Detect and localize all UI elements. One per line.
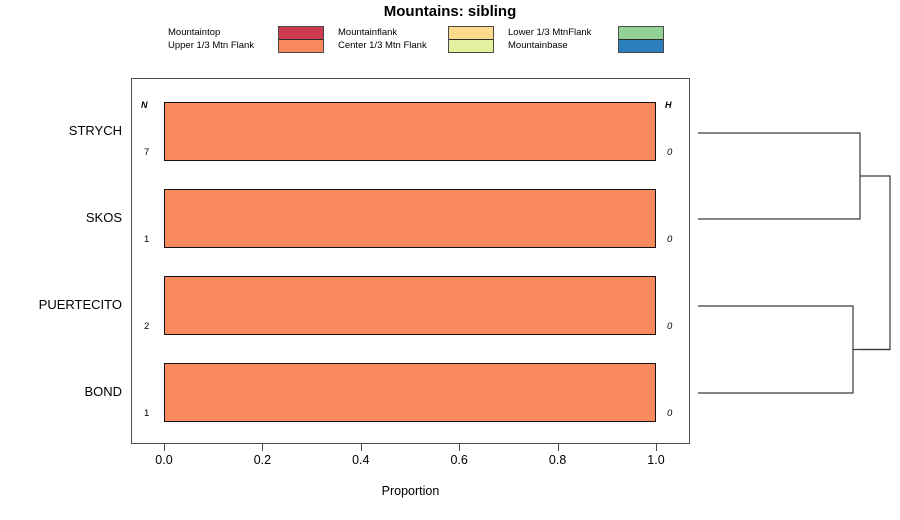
x-tick-0 (164, 444, 165, 451)
legend-labels-1: Mountaintop Upper 1/3 Mtn Flank (168, 26, 278, 52)
legend-label-center-third-mtn-flank: Center 1/3 Mtn Flank (338, 39, 448, 52)
x-tick-label-5: 1.0 (626, 453, 686, 467)
x-tick-5 (656, 444, 657, 451)
x-tick-1 (262, 444, 263, 451)
x-tick-4 (558, 444, 559, 451)
dendrogram-branches (698, 133, 890, 393)
row-h-value-strych: 0 (667, 147, 672, 158)
page-title: Mountains: sibling (0, 3, 900, 20)
x-axis-title: Proportion (131, 484, 690, 498)
legend-swatches-1 (278, 26, 324, 53)
legend-label-upper-third-mtn-flank: Upper 1/3 Mtn Flank (168, 39, 278, 52)
x-tick-label-3: 0.6 (429, 453, 489, 467)
legend: Mountaintop Upper 1/3 Mtn Flank Mountain… (168, 26, 688, 54)
legend-swatch-lower-third-mtn-flank (619, 27, 663, 40)
legend-swatches-3 (618, 26, 664, 53)
x-tick-label-4: 0.8 (528, 453, 588, 467)
x-tick-3 (459, 444, 460, 451)
row-n-value-bond: 1 (144, 408, 149, 419)
legend-labels-3: Lower 1/3 MtnFlank Mountainbase (508, 26, 618, 52)
legend-column-2: Mountainflank Center 1/3 Mtn Flank (338, 26, 508, 54)
x-tick-2 (361, 444, 362, 451)
row-n-value-puertecito: 2 (144, 321, 149, 332)
row-h-value-bond: 0 (667, 408, 672, 419)
row-h-value-puertecito: 0 (667, 321, 672, 332)
bar-bond (164, 363, 656, 422)
dendrogram-merge-puertecito-bond (698, 306, 853, 393)
column-header-n: N (141, 100, 148, 110)
row-label-bond: BOND (5, 384, 122, 399)
legend-swatch-mountaintop (279, 27, 323, 40)
column-header-h: H (665, 100, 672, 110)
bar-strych (164, 102, 656, 161)
bar-puertecito (164, 276, 656, 335)
legend-swatch-mountainbase (619, 40, 663, 52)
x-tick-label-2: 0.4 (331, 453, 391, 467)
x-tick-label-0: 0.0 (134, 453, 194, 467)
dendrogram-svg (690, 78, 900, 444)
legend-label-mountaintop: Mountaintop (168, 26, 278, 39)
row-n-value-strych: 7 (144, 147, 149, 158)
dendrogram-merge-root (860, 176, 890, 350)
dendrogram (690, 78, 900, 444)
legend-swatches-2 (448, 26, 494, 53)
legend-label-mountainbase: Mountainbase (508, 39, 618, 52)
row-label-skos: SKOS (5, 210, 122, 225)
legend-column-3: Lower 1/3 MtnFlank Mountainbase (508, 26, 678, 54)
legend-swatch-upper-third-mtn-flank (279, 40, 323, 52)
legend-labels-2: Mountainflank Center 1/3 Mtn Flank (338, 26, 448, 52)
legend-label-lower-third-mtn-flank: Lower 1/3 MtnFlank (508, 26, 618, 39)
legend-swatch-mountainflank (449, 27, 493, 40)
x-tick-label-1: 0.2 (232, 453, 292, 467)
row-n-value-skos: 1 (144, 234, 149, 245)
legend-column-1: Mountaintop Upper 1/3 Mtn Flank (168, 26, 338, 54)
dendrogram-merge-strych-skos (698, 133, 860, 219)
row-h-value-skos: 0 (667, 234, 672, 245)
legend-label-mountainflank: Mountainflank (338, 26, 448, 39)
row-label-puertecito: PUERTECITO (5, 297, 122, 312)
row-label-strych: STRYCH (5, 123, 122, 138)
bar-skos (164, 189, 656, 248)
legend-swatch-center-third-mtn-flank (449, 40, 493, 52)
